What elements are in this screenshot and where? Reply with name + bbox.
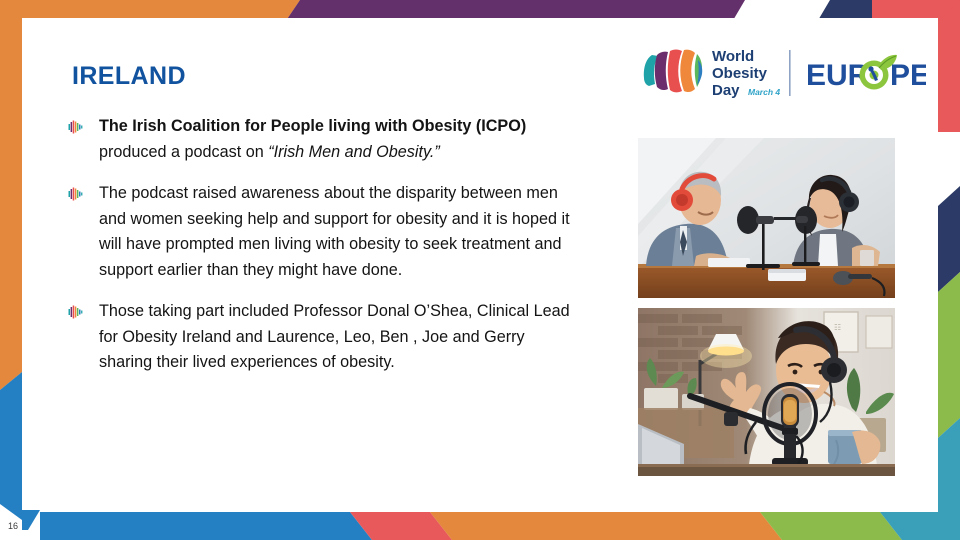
logo-wod-line3: Day bbox=[712, 82, 740, 99]
world-obesity-day-europe-logo: World Obesity Day March 4 EUR PE bbox=[638, 44, 926, 102]
bullet-item-1: The Irish Coalition for People living wi… bbox=[68, 114, 580, 165]
logo-europe-post: PE bbox=[890, 59, 926, 92]
podcast-host-photo: ☷ bbox=[638, 308, 895, 476]
logo-graphic: World Obesity Day March 4 EUR PE bbox=[638, 44, 926, 102]
deco-orange-bottom bbox=[430, 512, 782, 540]
svg-text:☷: ☷ bbox=[834, 323, 841, 332]
bullet-text-2: The podcast raised awareness about the d… bbox=[99, 181, 580, 283]
deco-red-right-upper bbox=[938, 0, 960, 132]
slide-canvas: IRELAND World Obesity Day March 4 EUR bbox=[0, 0, 960, 540]
bullet-1-segment-2: “Irish Men and Obesity.” bbox=[268, 143, 440, 161]
logo-wod-line2: Obesity bbox=[712, 65, 768, 82]
podcast-interview-photo bbox=[638, 138, 895, 298]
page-number: 16 bbox=[8, 521, 18, 531]
deco-green-bottom bbox=[760, 512, 902, 540]
logo-wod-date: March 4 bbox=[748, 87, 780, 97]
deco-blue-bottom bbox=[40, 512, 372, 540]
bullet-item-2: The podcast raised awareness about the d… bbox=[68, 181, 580, 283]
page-title: IRELAND bbox=[72, 62, 186, 91]
logo-wod-line1: World bbox=[712, 48, 754, 65]
deco-orange-left-edge bbox=[0, 0, 22, 390]
bullet-text-3: Those taking part included Professor Don… bbox=[99, 299, 580, 376]
podcast-interview-illustration bbox=[638, 138, 895, 298]
sound-wave-bullet-icon bbox=[68, 120, 83, 134]
bullet-list: The Irish Coalition for People living wi… bbox=[68, 114, 580, 376]
deco-green-right bbox=[938, 272, 960, 438]
bullet-text-1: The Irish Coalition for People living wi… bbox=[99, 114, 580, 165]
sound-wave-bullet-icon bbox=[68, 305, 83, 319]
bullet-1-segment-1: produced a podcast on bbox=[99, 143, 268, 161]
world-obesity-day-mark-icon bbox=[644, 50, 702, 93]
deco-blue-left-edge bbox=[0, 372, 22, 520]
bullet-1-segment-0: The Irish Coalition for People living wi… bbox=[99, 117, 526, 135]
bullet-item-3: Those taking part included Professor Don… bbox=[68, 299, 580, 376]
logo-divider bbox=[789, 50, 791, 96]
podcast-host-illustration: ☷ bbox=[638, 308, 895, 476]
sound-wave-bullet-icon bbox=[68, 187, 83, 201]
